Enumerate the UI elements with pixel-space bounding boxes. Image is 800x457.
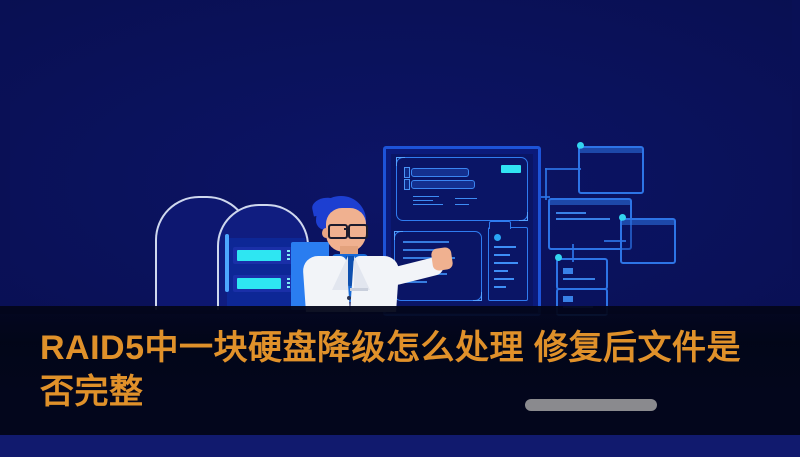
window-line: [563, 296, 573, 302]
document-line: [494, 270, 508, 272]
server-rack: [155, 198, 305, 310]
document-line: [494, 278, 514, 280]
floating-window-3: [620, 218, 676, 264]
window-titlebar: [622, 220, 674, 225]
panel-corner: [396, 157, 405, 166]
hero-banner: RAID5中一块硬盘降级怎么处理 修复后文件是否完整: [0, 0, 800, 457]
glasses-lens: [348, 224, 368, 239]
footer-bar: [0, 435, 800, 457]
panel-corner: [473, 292, 482, 301]
panel-text-line: [455, 198, 477, 199]
drive-bay-vents: [287, 278, 290, 289]
document-line: [494, 286, 506, 288]
window-line: [556, 212, 586, 214]
drive-bay-vents: [287, 250, 290, 261]
drive-bay: [233, 275, 293, 292]
status-row: [411, 168, 469, 177]
floating-window-4: [556, 258, 608, 290]
page-title: RAID5中一块硬盘降级怎么处理 修复后文件是否完整: [40, 326, 770, 414]
status-badge: [501, 165, 521, 173]
document-line: [494, 262, 518, 264]
coat-button: [347, 296, 351, 300]
folder-icon: [494, 234, 501, 241]
connector-line: [604, 240, 626, 242]
window-line: [563, 268, 573, 274]
status-row: [411, 180, 475, 189]
panel-marker: [404, 167, 410, 178]
technician: [292, 196, 452, 314]
window-line: [556, 218, 610, 220]
document-line: [494, 246, 516, 248]
connector-line: [572, 244, 574, 262]
drive-bay: [233, 247, 293, 264]
window-node-dot-icon: [555, 254, 562, 261]
panel-text-line: [455, 204, 469, 205]
glasses-icon: [328, 224, 368, 235]
folder-tab-icon: [489, 221, 511, 229]
drive-bay-led: [237, 250, 281, 261]
cabinet-led-strip: [225, 234, 229, 292]
window-titlebar: [580, 148, 642, 153]
drive-bay-led: [237, 278, 281, 289]
window-titlebar: [550, 200, 630, 205]
connector-line: [545, 168, 581, 170]
glasses-lens: [328, 224, 348, 239]
glasses-bridge: [344, 228, 348, 230]
panel-marker: [404, 179, 410, 190]
coat-pocket: [350, 288, 368, 291]
hand: [431, 247, 454, 272]
document-line: [494, 254, 510, 256]
floating-window-1: [578, 146, 644, 194]
window-line: [563, 278, 595, 280]
progress-bar: [525, 399, 657, 411]
document-panel: [488, 227, 528, 301]
panel-corner: [519, 212, 528, 221]
